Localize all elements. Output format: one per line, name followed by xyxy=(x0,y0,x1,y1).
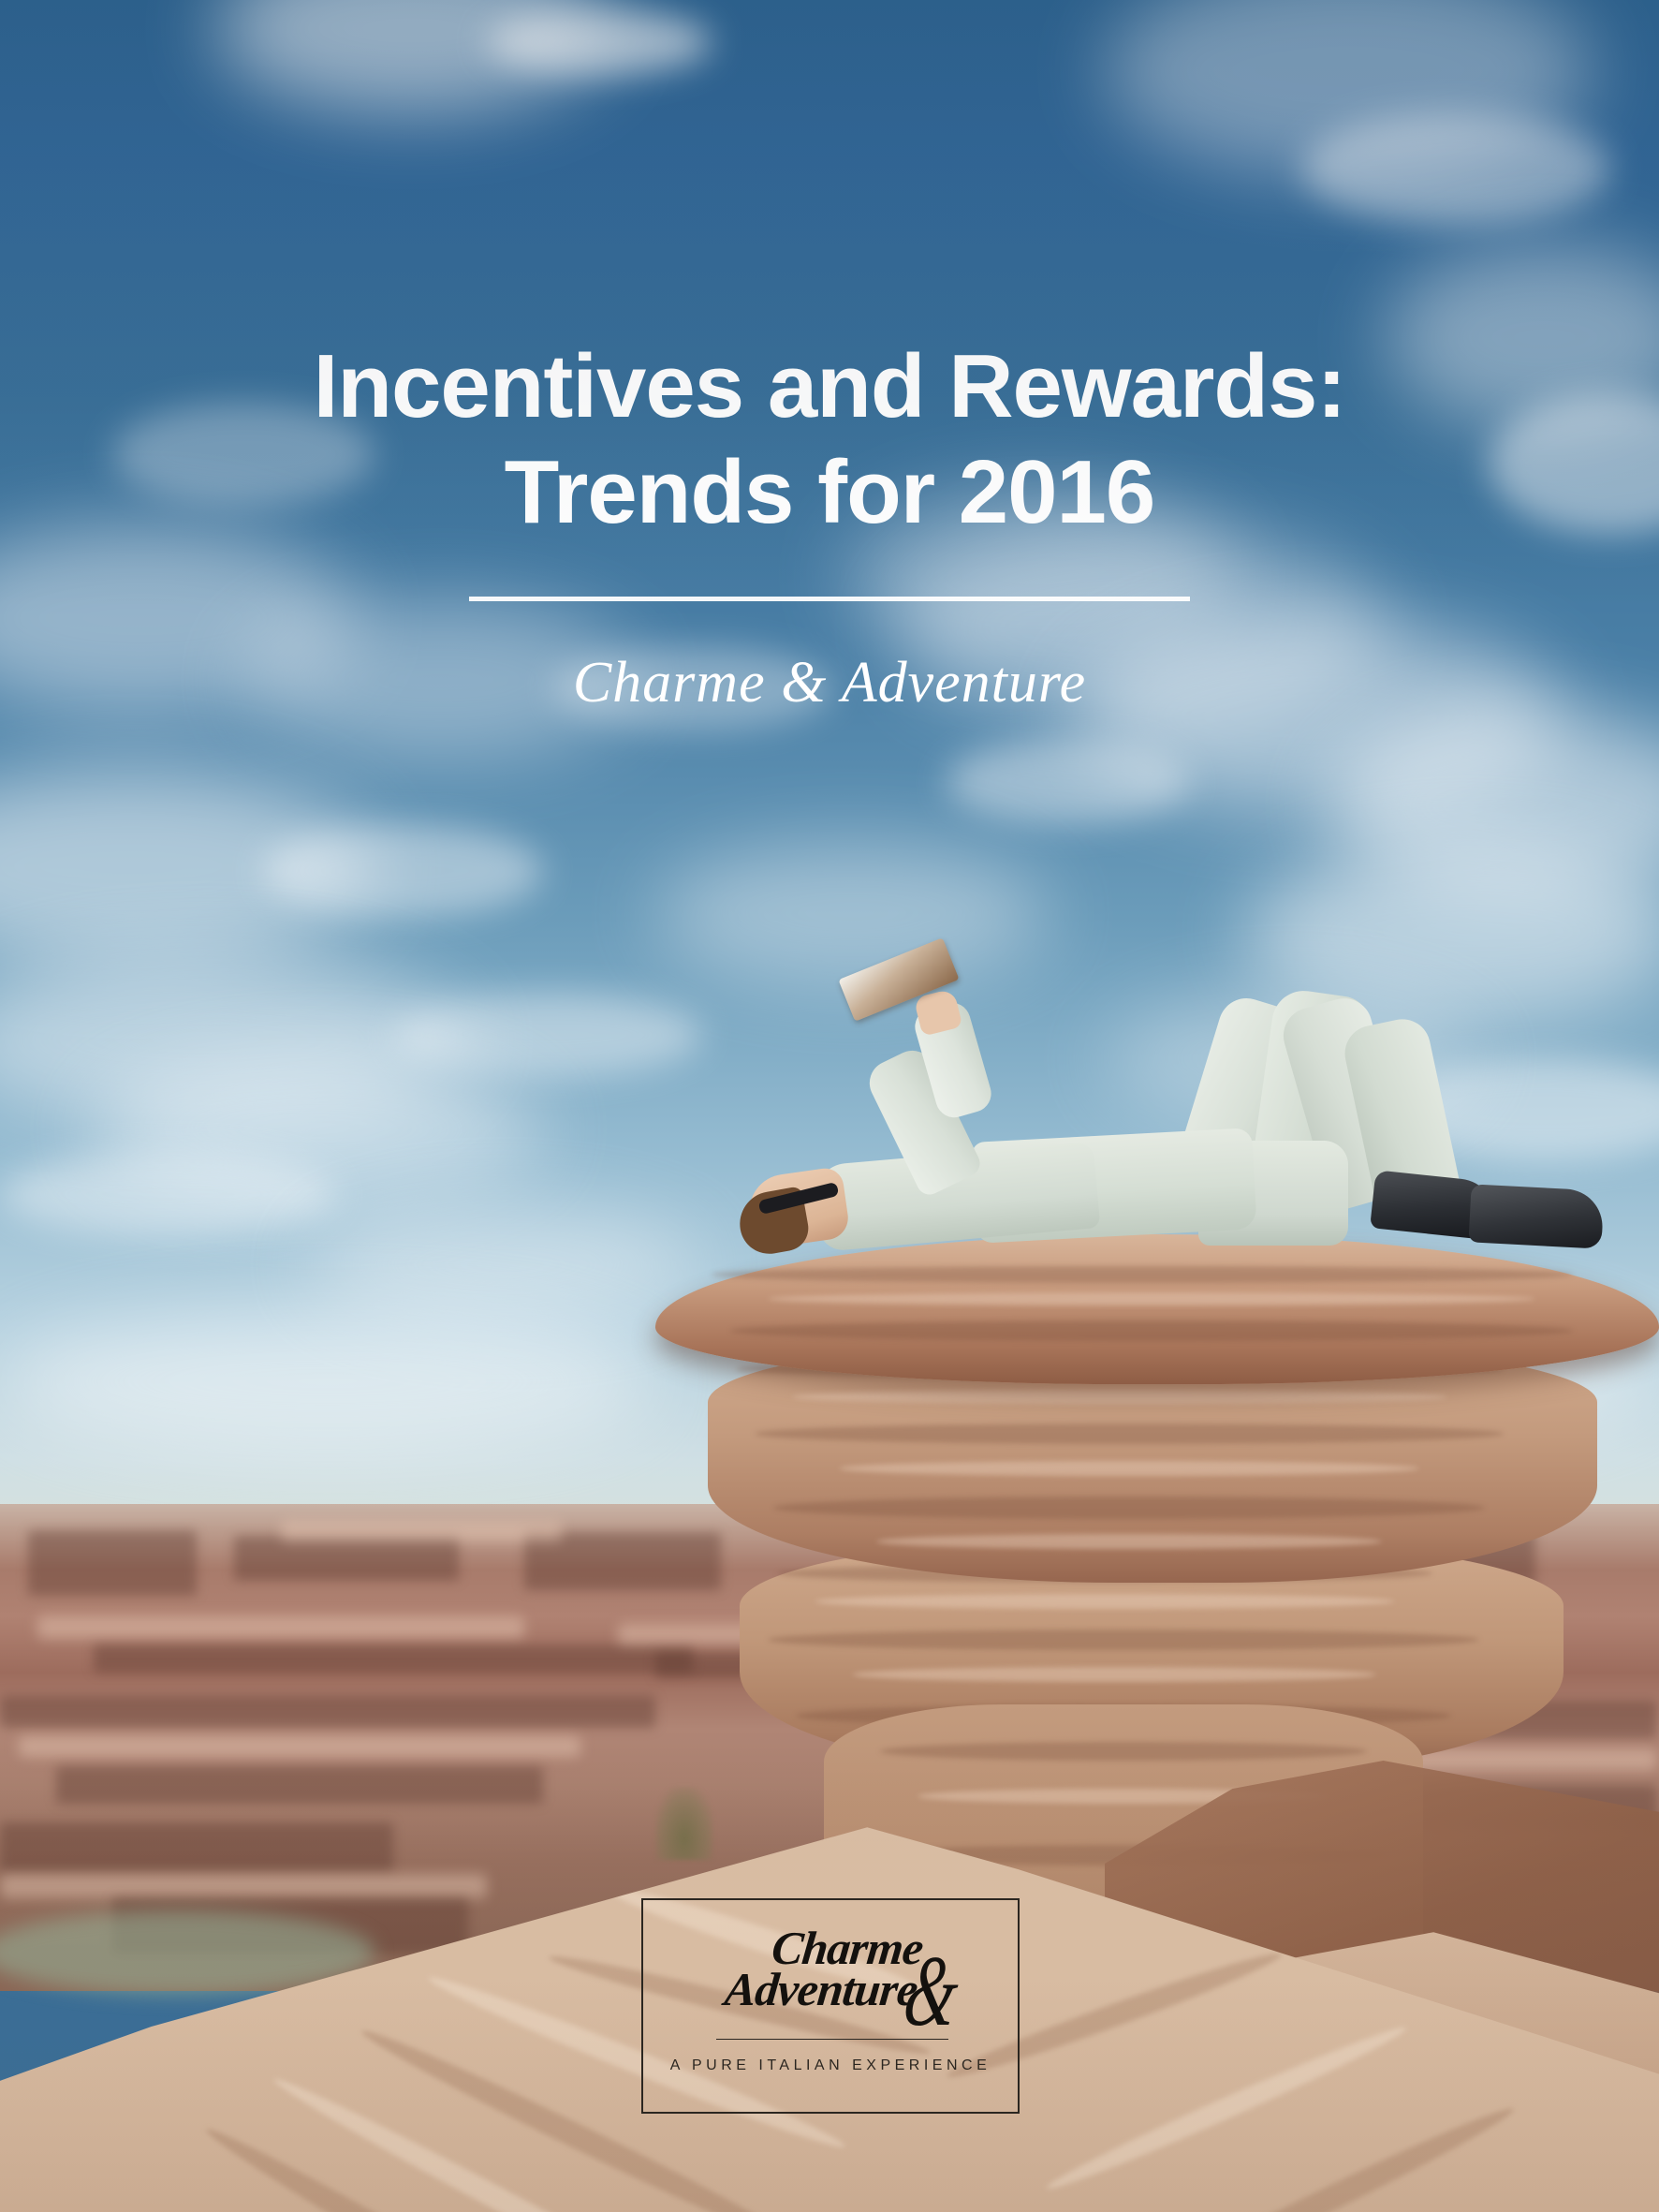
page-title: Incentives and Rewards: Trends for 2016 xyxy=(0,333,1659,545)
cover-title-block: Incentives and Rewards: Trends for 2016 xyxy=(0,333,1659,545)
sky-background xyxy=(0,0,1659,1536)
brand-logo-inner: Charme Adventure & A PURE ITALIAN EXPERI… xyxy=(643,1900,1018,2112)
report-cover-page: Incentives and Rewards: Trends for 2016 … xyxy=(0,0,1659,2212)
desert-shrub xyxy=(655,1787,713,1860)
brand-logo: Charme Adventure & A PURE ITALIAN EXPERI… xyxy=(641,1898,1020,2114)
cover-subtitle: Charme & Adventure xyxy=(0,650,1659,716)
brand-logo-rule xyxy=(716,2039,948,2040)
brand-logo-tagline: A PURE ITALIAN EXPERIENCE xyxy=(643,2057,1018,2074)
title-divider-rule xyxy=(469,597,1190,601)
